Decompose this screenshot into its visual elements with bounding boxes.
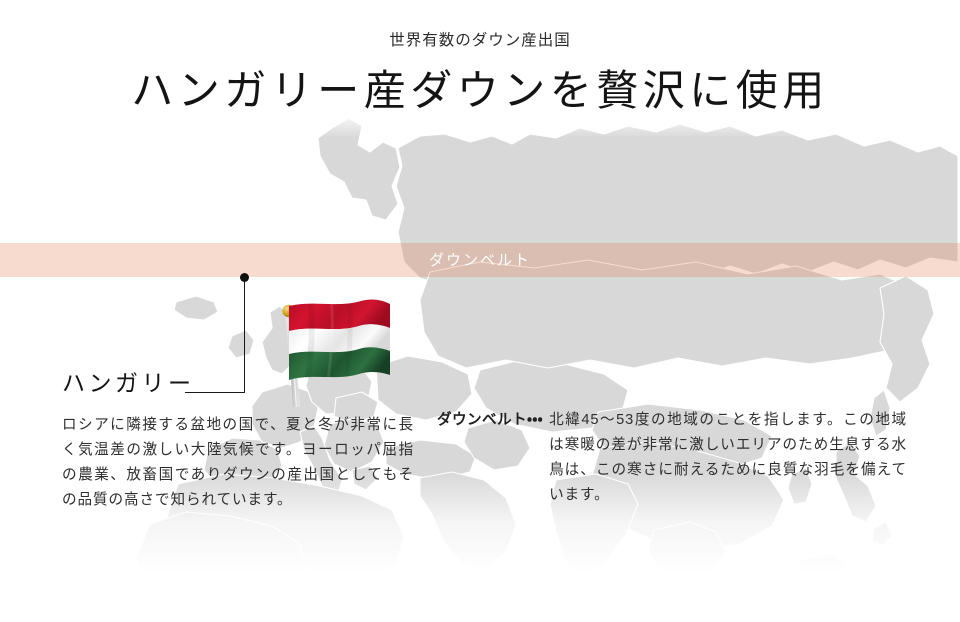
- down-belt-term-label: ダウンベルト・・・: [437, 408, 549, 433]
- down-belt-description: 北緯45〜53度の地域のことを指します。この地域は寒暖の差が非常に激しいエリアの…: [549, 408, 907, 508]
- flag-bands: [289, 299, 390, 380]
- hungary-info-block: ハンガリー ロシアに隣接する盆地の国で、夏と冬が非常に長く気温差の激しい大陸気候…: [62, 372, 422, 513]
- hungary-heading: ハンガリー: [62, 372, 422, 395]
- hungary-map-pin-icon: [240, 273, 249, 282]
- page-subtitle: 世界有数のダウン産出国: [0, 33, 960, 49]
- page-title: ハンガリー産ダウンを贅沢に使用: [0, 70, 960, 115]
- down-belt-info-block: ダウンベルト・・・ 北緯45〜53度の地域のことを指します。この地域は寒暖の差が…: [437, 408, 907, 508]
- hungary-description: ロシアに隣接する盆地の国で、夏と冬が非常に長く気温差の激しい大陸気候です。ヨーロ…: [62, 413, 414, 513]
- down-belt-label: ダウンベルト: [429, 253, 531, 268]
- promo-banner: 世界有数のダウン産出国 ハンガリー産ダウンを贅沢に使用: [0, 0, 960, 622]
- page-header: 世界有数のダウン産出国 ハンガリー産ダウンを贅沢に使用: [0, 0, 960, 115]
- down-belt-band: ダウンベルト: [0, 243, 960, 277]
